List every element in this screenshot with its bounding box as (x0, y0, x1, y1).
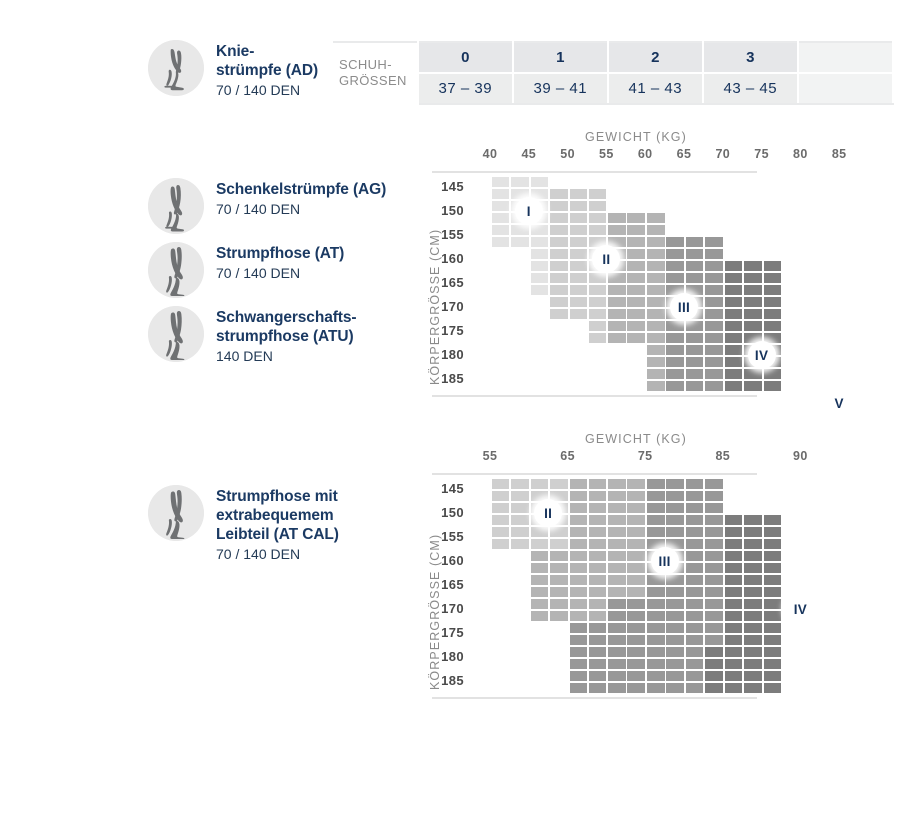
leg-maternity-icon (148, 306, 204, 362)
grid-line-vertical (606, 175, 608, 391)
zone-badge-iv: IV (786, 595, 814, 623)
grid-line-vertical (665, 175, 667, 391)
grid-line-vertical (703, 175, 705, 391)
grid-line-vertical (703, 477, 705, 693)
y-axis-tick: 180 (428, 649, 464, 664)
shoe-range-cell: 37 – 39 (418, 73, 513, 104)
leg-comfort-waist-icon (148, 485, 204, 541)
grid-line-vertical (684, 175, 686, 391)
grid-line-vertical (820, 175, 822, 391)
heatmap-zone-block (606, 211, 664, 343)
grid-line-vertical (859, 175, 861, 391)
grid-line-vertical (820, 477, 822, 693)
grid-line-vertical (626, 477, 628, 693)
x-axis-tick: 85 (825, 147, 853, 161)
grid-line-vertical (490, 477, 492, 693)
product-schenkelstruempfe-ag: Schenkelstrümpfe (AG) 70 / 140 DEN (148, 178, 398, 234)
grid-line-vertical (878, 175, 880, 391)
grid-line-vertical (878, 477, 880, 693)
grid-line-vertical (859, 477, 861, 693)
grid-line-horizontal (490, 693, 878, 695)
shoe-size-range-row: 37 – 39 39 – 41 41 – 43 43 – 45 (333, 73, 893, 104)
grid-line-vertical (800, 175, 802, 391)
x-axis-tick: 40 (476, 147, 504, 161)
y-axis-tick: 160 (428, 251, 464, 266)
y-axis-tick: 185 (428, 673, 464, 688)
shoe-size-cell: 0 (418, 42, 513, 73)
product-den: 70 / 140 DEN (216, 264, 344, 283)
product-title: Knie- strümpfe (AD) (216, 42, 318, 80)
x-axis-tick: 75 (748, 147, 776, 161)
shoe-range-cell: 43 – 45 (703, 73, 798, 104)
product-title: Schenkelstrümpfe (AG) (216, 180, 386, 199)
heatmap-zone-block (723, 259, 781, 391)
zone-badge-ii: II (534, 499, 562, 527)
grid-line-vertical (548, 175, 550, 391)
heatmap-zone-block (703, 331, 722, 343)
grid-line-vertical (587, 175, 589, 391)
shoe-size-cell-empty (798, 42, 893, 73)
grid-line-vertical (509, 175, 511, 391)
shoe-size-header-row: SCHUH- GRÖSSEN 0 1 2 3 (333, 42, 893, 73)
grid-line-vertical (490, 175, 492, 391)
y-axis-tick: 170 (428, 601, 464, 616)
grid-line-vertical (839, 477, 841, 693)
grid-line-vertical (587, 477, 589, 693)
grid-line-vertical (529, 477, 531, 693)
grid-line-vertical (626, 175, 628, 391)
shoe-size-cell: 2 (608, 42, 703, 73)
chart-upper-title: GEWICHT (KG) (585, 130, 687, 144)
y-axis-tick: 150 (428, 203, 464, 218)
product-title: Schwangerschafts- strumpfhose (ATU) (216, 308, 356, 346)
grid-line-vertical (665, 477, 667, 693)
shoe-size-table: SCHUH- GRÖSSEN 0 1 2 3 37 – 39 39 – 41 4… (333, 41, 894, 105)
grid-line-vertical (684, 477, 686, 693)
product-title: Strumpfhose (AT) (216, 244, 344, 263)
product-den: 70 / 140 DEN (216, 545, 339, 564)
grid-line-vertical (781, 477, 783, 693)
product-den: 70 / 140 DEN (216, 200, 386, 219)
x-axis-tick: 65 (554, 449, 582, 463)
x-axis-tick: 70 (709, 147, 737, 161)
y-axis-tick: 170 (428, 299, 464, 314)
shoe-range-cell: 39 – 41 (513, 73, 608, 104)
x-axis-tick: 45 (515, 147, 543, 161)
product-schwangerschaftsstrumpfhose-atu: Schwangerschafts- strumpfhose (ATU) 140 … (148, 306, 398, 366)
grid-line-vertical (742, 477, 744, 693)
y-axis-tick: 165 (428, 577, 464, 592)
leg-thigh-high-icon (148, 178, 204, 234)
y-axis-tick: 165 (428, 275, 464, 290)
grid-line-vertical (568, 477, 570, 693)
y-axis-tick: 180 (428, 347, 464, 362)
zone-badge-iv: IV (748, 341, 776, 369)
leg-knee-high-icon (148, 40, 204, 96)
x-axis-tick: 65 (670, 147, 698, 161)
y-axis-tick: 175 (428, 625, 464, 640)
y-axis-tick: 175 (428, 323, 464, 338)
y-axis-tick: 145 (428, 481, 464, 496)
zone-badge-iii: III (651, 547, 679, 575)
x-axis-tick: 55 (476, 449, 504, 463)
product-strumpfhose-at: Strumpfhose (AT) 70 / 140 DEN (148, 242, 398, 298)
y-axis-tick: 155 (428, 529, 464, 544)
x-axis-tick: 60 (631, 147, 659, 161)
grid-line-vertical (762, 477, 764, 693)
product-den: 70 / 140 DEN (216, 81, 318, 100)
chart-lower: GEWICHT (KG) KÖRPERGRÖSSE (CM) 556575859… (415, 432, 815, 712)
chart-lower-title: GEWICHT (KG) (585, 432, 687, 446)
x-axis-tick: 90 (786, 449, 814, 463)
chart-bottom-axis (432, 395, 757, 397)
heatmap-zone-block (606, 307, 625, 319)
grid-line-vertical (781, 175, 783, 391)
grid-line-vertical (723, 175, 725, 391)
chart-top-axis (432, 473, 757, 475)
y-axis-tick: 145 (428, 179, 464, 194)
y-axis-tick: 155 (428, 227, 464, 242)
zone-badge-v: V (825, 389, 853, 417)
grid-line-vertical (606, 477, 608, 693)
product-knie-struempfe-ad: Knie- strümpfe (AD) 70 / 140 DEN (148, 40, 333, 100)
chart-top-axis (432, 171, 757, 173)
x-axis-tick: 85 (709, 449, 737, 463)
chart-upper: GEWICHT (KG) KÖRPERGRÖSSE (CM) 404550556… (415, 130, 815, 410)
leg-pantyhose-icon (148, 242, 204, 298)
grid-line-vertical (742, 175, 744, 391)
x-axis-tick: 80 (786, 147, 814, 161)
product-title: Strumpfhose mit extrabequemem Leibteil (… (216, 487, 339, 544)
grid-line-vertical (568, 175, 570, 391)
shoe-size-row-label: SCHUH- GRÖSSEN (333, 42, 418, 104)
zone-badge-iii: III (670, 293, 698, 321)
shoe-range-cell-empty (798, 73, 893, 104)
product-strumpfhose-at-cal: Strumpfhose mit extrabequemem Leibteil (… (148, 485, 398, 564)
x-axis-tick: 75 (631, 449, 659, 463)
size-chart-page: Knie- strümpfe (AD) 70 / 140 DEN Schenke… (0, 0, 924, 826)
y-axis-tick: 160 (428, 553, 464, 568)
grid-line-horizontal (490, 391, 878, 393)
y-axis-tick: 150 (428, 505, 464, 520)
shoe-size-cell: 3 (703, 42, 798, 73)
grid-line-vertical (800, 477, 802, 693)
heatmap-zone-block (723, 513, 781, 693)
shoe-range-cell: 41 – 43 (608, 73, 703, 104)
zone-badge-i: I (515, 197, 543, 225)
x-axis-tick: 55 (592, 147, 620, 161)
product-den: 140 DEN (216, 347, 356, 366)
grid-line-vertical (839, 175, 841, 391)
grid-line-vertical (723, 477, 725, 693)
grid-line-vertical (645, 477, 647, 693)
shoe-size-cell: 1 (513, 42, 608, 73)
chart-bottom-axis (432, 697, 757, 699)
grid-line-vertical (509, 477, 511, 693)
grid-line-vertical (645, 175, 647, 391)
y-axis-tick: 185 (428, 371, 464, 386)
x-axis-tick: 50 (554, 147, 582, 161)
